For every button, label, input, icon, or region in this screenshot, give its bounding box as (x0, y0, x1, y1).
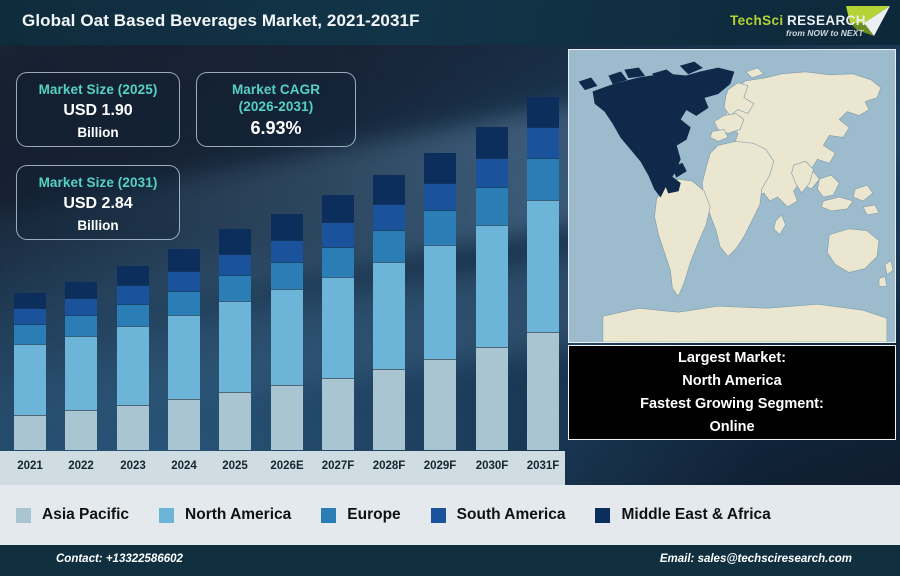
bar-segment-south-america (373, 204, 405, 230)
bar-2028F (373, 175, 405, 450)
legend-label: Asia Pacific (42, 506, 129, 524)
chart-canvas: Market Size (2025) USD 1.90 Billion Mark… (0, 45, 900, 485)
bar-segment-north-america (476, 225, 508, 347)
x-axis-tick-2024: 2024 (171, 460, 197, 472)
bar-segment-europe (476, 187, 508, 225)
bar-segment-europe (117, 304, 149, 326)
bar-segment-north-america (424, 245, 456, 359)
bar-segment-asia-pacific (14, 415, 46, 450)
bar-segment-south-america (65, 298, 97, 315)
legend-swatch-icon (16, 508, 31, 523)
bar-segment-north-america (14, 344, 46, 415)
x-axis-tick-2031F: 2031F (527, 460, 560, 472)
x-axis-tick-2021: 2021 (17, 460, 43, 472)
bar-segment-asia-pacific (476, 347, 508, 450)
x-axis-tick-2026E: 2026E (270, 460, 303, 472)
legend-item-north-america[interactable]: North America (159, 506, 291, 524)
bar-segment-middle-east-africa (322, 195, 354, 222)
bar-segment-north-america (373, 262, 405, 369)
legend-label: Middle East & Africa (621, 506, 770, 524)
footer-email: Email: sales@techsciresearch.com (660, 553, 852, 565)
bar-2026E (271, 214, 303, 450)
x-axis-tick-2023: 2023 (120, 460, 146, 472)
bar-segment-europe (527, 158, 559, 200)
highlights-box: Largest Market: North America Fastest Gr… (568, 345, 896, 440)
bar-2021 (14, 293, 46, 450)
bar-segment-asia-pacific (168, 399, 200, 450)
bar-2024 (168, 249, 200, 450)
bar-segment-asia-pacific (117, 405, 149, 450)
bar-segment-europe (168, 291, 200, 315)
bar-segment-north-america (117, 326, 149, 405)
bar-2027F (322, 195, 354, 450)
bar-segment-middle-east-africa (14, 293, 46, 308)
legend-swatch-icon (321, 508, 336, 523)
bar-segment-south-america (527, 127, 559, 158)
fastest-segment-label: Fastest Growing Segment: (640, 393, 824, 416)
bar-segment-asia-pacific (322, 378, 354, 450)
bar-segment-europe (14, 324, 46, 344)
legend-item-asia-pacific[interactable]: Asia Pacific (16, 506, 129, 524)
footer-contact: Contact: +13322586602 (56, 553, 183, 565)
bar-segment-south-america (424, 183, 456, 210)
bar-segment-asia-pacific (271, 385, 303, 450)
legend-label: North America (185, 506, 291, 524)
bar-segment-south-america (219, 254, 251, 275)
bar-segment-asia-pacific (373, 369, 405, 450)
bar-segment-south-america (168, 271, 200, 291)
legend-swatch-icon (595, 508, 610, 523)
header-bar: Global Oat Based Beverages Market, 2021-… (0, 0, 900, 45)
fastest-segment-value: Online (709, 416, 754, 439)
svg-text:from NOW to NEXT: from NOW to NEXT (786, 28, 864, 38)
bar-segment-south-america (271, 240, 303, 262)
legend-item-middle-east-africa[interactable]: Middle East & Africa (595, 506, 770, 524)
svg-text:TechSci: TechSci (730, 13, 784, 28)
bar-segment-north-america (527, 200, 559, 332)
bar-segment-europe (322, 247, 354, 277)
legend-label: South America (457, 506, 566, 524)
bar-segment-south-america (322, 222, 354, 247)
infographic-page: Global Oat Based Beverages Market, 2021-… (0, 0, 900, 576)
bar-segment-europe (65, 315, 97, 336)
bar-segment-middle-east-africa (271, 214, 303, 240)
x-axis-tick-2027F: 2027F (322, 460, 355, 472)
world-map-svg (569, 50, 895, 342)
bar-segment-middle-east-africa (476, 127, 508, 158)
legend-item-south-america[interactable]: South America (431, 506, 566, 524)
legend-swatch-icon (431, 508, 446, 523)
bar-segment-middle-east-africa (117, 266, 149, 285)
bar-segment-middle-east-africa (168, 249, 200, 271)
x-axis-tick-2030F: 2030F (476, 460, 509, 472)
x-axis-tick-2022: 2022 (68, 460, 94, 472)
x-axis: 202120222023202420252026E2027F2028F2029F… (0, 450, 565, 474)
chart-legend: Asia PacificNorth AmericaEuropeSouth Ame… (0, 485, 900, 545)
bar-segment-asia-pacific (424, 359, 456, 450)
techsci-research-logo: TechSci RESEARCH from NOW to NEXT (724, 3, 892, 42)
bar-segment-middle-east-africa (527, 97, 559, 127)
bar-2025 (219, 229, 251, 450)
legend-label: Europe (347, 506, 400, 524)
bar-2029F (424, 153, 456, 450)
bar-segment-north-america (271, 289, 303, 385)
bar-segment-asia-pacific (219, 392, 251, 450)
page-title: Global Oat Based Beverages Market, 2021-… (22, 11, 420, 31)
bar-segment-asia-pacific (527, 332, 559, 450)
bar-segment-asia-pacific (65, 410, 97, 450)
bar-segment-north-america (168, 315, 200, 399)
stacked-bar-chart: 202120222023202420252026E2027F2028F2029F… (0, 45, 565, 485)
bar-segment-europe (219, 275, 251, 301)
bar-segment-europe (424, 210, 456, 245)
x-axis-tick-2029F: 2029F (424, 460, 457, 472)
bar-segment-europe (271, 262, 303, 289)
bar-2023 (117, 266, 149, 450)
bar-2030F (476, 127, 508, 450)
bar-segment-north-america (219, 301, 251, 392)
bar-2031F (527, 97, 559, 450)
plot-area (14, 75, 559, 450)
svg-text:RESEARCH: RESEARCH (787, 13, 866, 28)
bar-segment-north-america (65, 336, 97, 410)
bar-segment-europe (373, 230, 405, 262)
bar-segment-south-america (117, 285, 149, 304)
footer-bar: Contact: +13322586602 Email: sales@techs… (0, 545, 900, 576)
legend-item-europe[interactable]: Europe (321, 506, 400, 524)
x-axis-tick-2025: 2025 (222, 460, 248, 472)
bar-segment-middle-east-africa (219, 229, 251, 254)
x-axis-tick-2028F: 2028F (373, 460, 406, 472)
bar-segment-middle-east-africa (65, 282, 97, 298)
bar-segment-middle-east-africa (373, 175, 405, 204)
legend-swatch-icon (159, 508, 174, 523)
bar-segment-south-america (476, 158, 508, 187)
largest-market-value: North America (682, 370, 781, 393)
largest-market-label: Largest Market: (678, 347, 786, 370)
bar-2022 (65, 282, 97, 450)
bar-segment-middle-east-africa (424, 153, 456, 183)
bar-segment-north-america (322, 277, 354, 378)
world-map-panel (568, 49, 896, 343)
bar-segment-south-america (14, 308, 46, 324)
